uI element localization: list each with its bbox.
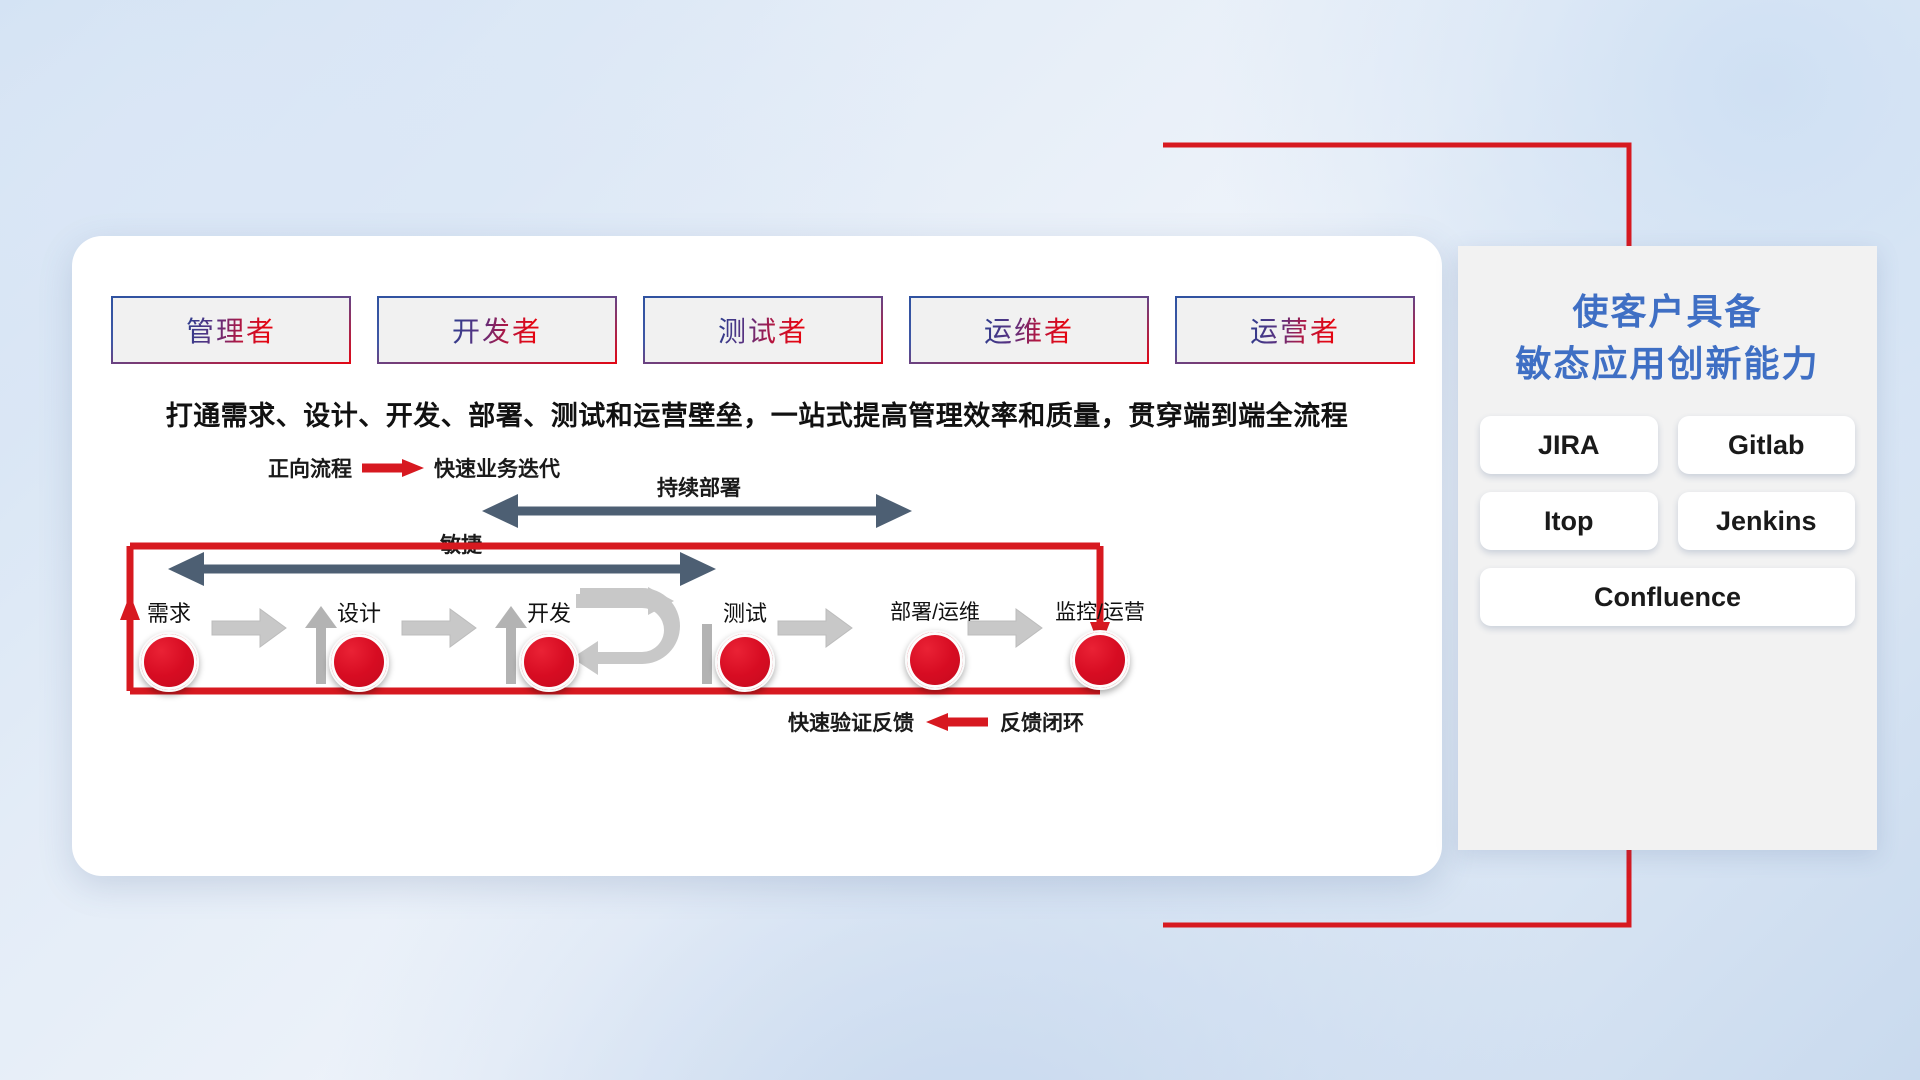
flow-node-dot [715, 632, 775, 692]
panel-title: 使客户具备 敏态应用创新能力 [1458, 246, 1877, 390]
tool-gitlab[interactable]: Gitlab [1678, 416, 1856, 474]
role-label: 运维者 [984, 310, 1074, 350]
tool-confluence[interactable]: Confluence [1480, 568, 1855, 626]
feedback-annotation: 快速验证反馈 反馈闭环 [788, 707, 1084, 737]
fast-validation-label: 快速验证反馈 [788, 707, 914, 737]
flow-node-requirement[interactable]: 需求 [114, 596, 224, 692]
tool-jira[interactable]: JIRA [1480, 416, 1658, 474]
main-content-card: 管理者 开发者 测试者 运维者 运营者 打通需求、设计、开发、部署、测试和运营壁… [72, 236, 1442, 876]
flow-node-dot [1070, 630, 1130, 690]
flow-node-dot [519, 632, 579, 692]
capability-panel: 使客户具备 敏态应用创新能力 JIRA Gitlab Itop Jenkins … [1458, 246, 1877, 850]
flow-node-dot [905, 630, 965, 690]
tool-label: Confluence [1594, 582, 1741, 613]
role-label: 运营者 [1250, 310, 1340, 350]
arrow-left-red-icon [926, 712, 988, 732]
role-label: 管理者 [186, 310, 276, 350]
feedback-loop-label: 反馈闭环 [1000, 707, 1084, 737]
tool-label: Jenkins [1716, 506, 1817, 537]
panel-title-line1: 使客户具备 [1458, 286, 1877, 338]
flow-node-design[interactable]: 设计 [304, 596, 414, 692]
flow-node-label: 监控/运营 [1045, 596, 1155, 626]
tool-label: JIRA [1538, 430, 1600, 461]
flow-node-testing[interactable]: 测试 [690, 596, 800, 692]
tool-itop[interactable]: Itop [1480, 492, 1658, 550]
panel-title-line2: 敏态应用创新能力 [1458, 338, 1877, 390]
flow-node-dot [139, 632, 199, 692]
slide-canvas: 管理者 开发者 测试者 运维者 运营者 打通需求、设计、开发、部署、测试和运营壁… [0, 0, 1920, 1080]
role-label: 开发者 [452, 310, 542, 350]
flow-node-label: 设计 [304, 596, 414, 628]
flow-node-monitor-operations[interactable]: 监控/运营 [1045, 596, 1155, 690]
flow-node-label: 测试 [690, 596, 800, 628]
tool-list: JIRA Gitlab Itop Jenkins Confluence [1458, 390, 1877, 626]
flow-node-label: 开发 [494, 596, 604, 628]
flow-node-dot [329, 632, 389, 692]
flow-node-deploy-ops[interactable]: 部署/运维 [880, 596, 990, 690]
flow-node-development[interactable]: 开发 [494, 596, 604, 692]
flow-node-label: 部署/运维 [880, 596, 990, 626]
tool-label: Gitlab [1728, 430, 1805, 461]
flow-node-label: 需求 [114, 596, 224, 628]
tool-jenkins[interactable]: Jenkins [1678, 492, 1856, 550]
role-label: 测试者 [718, 310, 808, 350]
tool-label: Itop [1544, 506, 1593, 537]
